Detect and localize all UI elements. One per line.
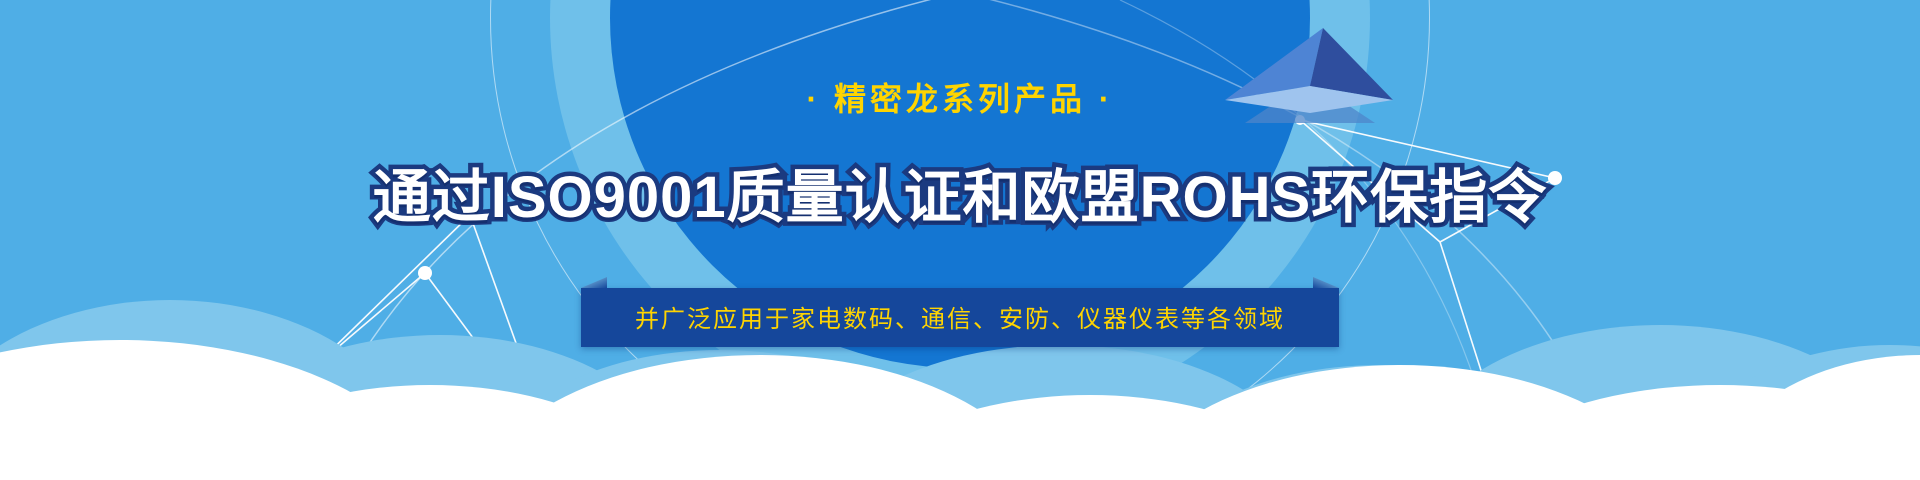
promo-banner: · 精密龙系列产品 · 通过ISO9001质量认证和欧盟ROHS环保指令 并广泛… <box>0 0 1920 480</box>
banner-content: · 精密龙系列产品 · 通过ISO9001质量认证和欧盟ROHS环保指令 并广泛… <box>0 0 1920 480</box>
banner-subtitle-bar-wrap: 并广泛应用于家电数码、通信、安防、仪器仪表等各领域 <box>0 288 1920 344</box>
banner-eyebrow: · 精密龙系列产品 · <box>0 74 1920 120</box>
banner-headline: 通过ISO9001质量认证和欧盟ROHS环保指令 <box>0 150 1920 234</box>
banner-subtitle-bar: 并广泛应用于家电数码、通信、安防、仪器仪表等各领域 <box>581 288 1339 347</box>
